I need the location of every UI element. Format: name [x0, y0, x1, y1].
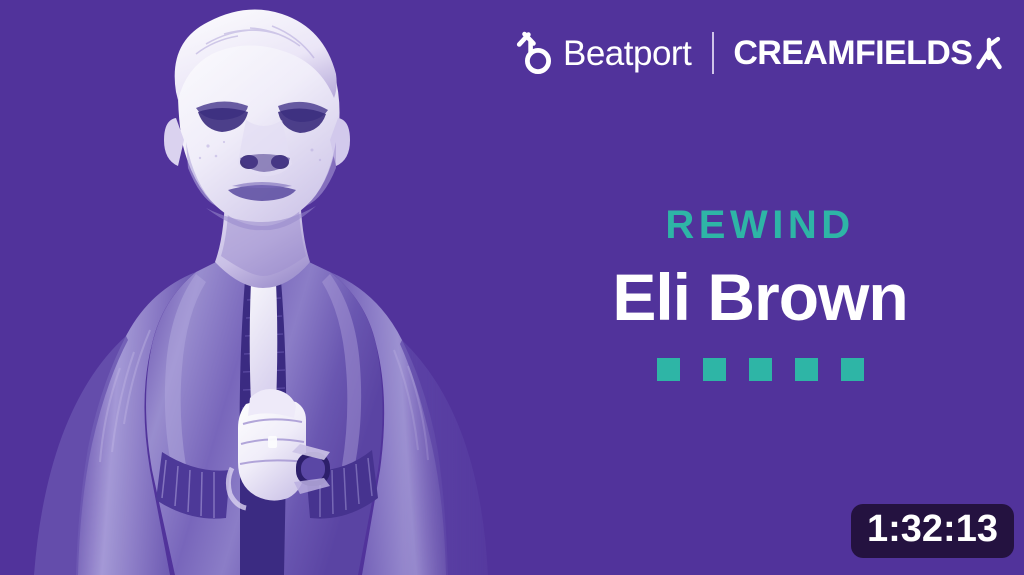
creamfields-trident-icon	[974, 36, 1004, 70]
accent-square	[795, 358, 818, 381]
artist-name: Eli Brown	[545, 263, 975, 332]
artist-portrait-artwork	[0, 0, 560, 575]
beatport-b-logo-icon	[516, 31, 554, 75]
accent-square	[749, 358, 772, 381]
video-duration-badge: 1:32:13	[851, 504, 1014, 558]
headline-block: REWIND Eli Brown	[545, 205, 975, 381]
beatport-wordmark: Beatport	[563, 36, 691, 71]
accent-square	[841, 358, 864, 381]
brand-lockup: Beatport CREAMFIELDS	[516, 24, 1004, 82]
video-thumbnail: Beatport CREAMFIELDS REWIND Eli Brown 1:…	[0, 0, 1024, 575]
rewind-eyebrow: REWIND	[545, 205, 975, 245]
creamfields-logo: CREAMFIELDS	[733, 36, 1004, 70]
accent-square	[657, 358, 680, 381]
creamfields-wordmark: CREAMFIELDS	[733, 36, 972, 70]
accent-square-row	[545, 358, 975, 381]
brand-divider	[712, 32, 714, 74]
accent-square	[703, 358, 726, 381]
beatport-logo: Beatport	[516, 31, 691, 75]
